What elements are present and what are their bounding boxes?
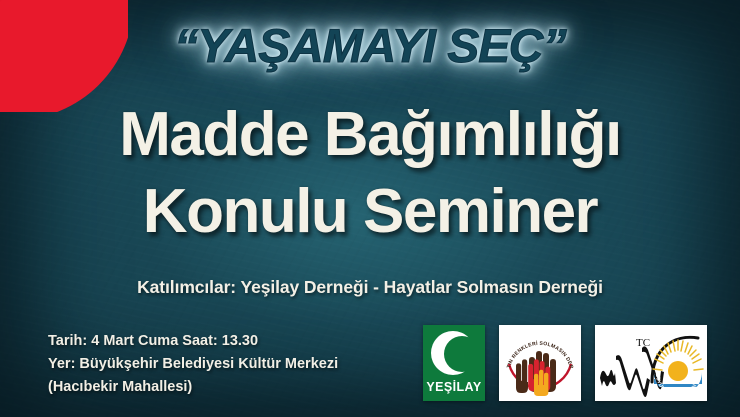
sponsor-logo-strip: YEŞİLAY HAYATIN RENKLERİ SOLMASIN DERNEĞ… [423, 325, 707, 401]
ribbon-red-corner [0, 0, 128, 112]
event-details: Tarih: 4 Mart Cuma Saat: 13.30 Yer: Büyü… [48, 330, 338, 399]
sun-over-water-icon: TC [596, 326, 706, 400]
event-date-line: Tarih: 4 Mart Cuma Saat: 13.30 [48, 330, 338, 353]
seminar-poster: Tüm Halkımız Davetlidir! “YAŞAMAYI SEÇ” … [0, 0, 740, 417]
yesilay-logo-label: YEŞİLAY [426, 380, 481, 394]
tc-label: TC [636, 337, 650, 349]
participants-line: Katılımcılar: Yeşilay Derneği - Hayatlar… [0, 277, 740, 298]
event-venue-line: Yer: Büyükşehir Belediyesi Kültür Merkez… [48, 353, 338, 376]
yesilay-logo: YEŞİLAY [423, 325, 485, 401]
poster-headline-line-2: Konulu Seminer [0, 176, 740, 247]
van-buyuksehir-belediyesi-logo: TC [595, 325, 707, 401]
hayatlar-solmasin-logo: HAYATIN RENKLERİ SOLMASIN DERNEĞİ [499, 325, 581, 401]
corner-ribbon: Tüm Halkımız Davetlidir! [0, 0, 128, 112]
hands-icon: HAYATIN RENKLERİ SOLMASIN DERNEĞİ [500, 326, 580, 400]
crescent-icon [431, 331, 477, 377]
event-neighborhood-line: (Hacıbekir Mahallesi) [48, 376, 338, 399]
